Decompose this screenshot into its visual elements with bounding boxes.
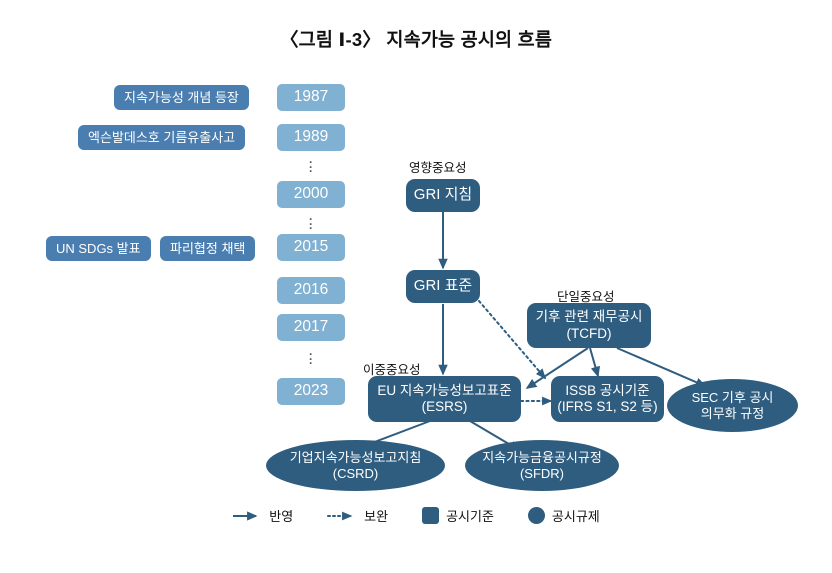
figure-root: 〈그림 Ⅰ-3〉 지속가능 공시의 흐름 (0, 0, 832, 573)
event-box-1987: 지속가능성 개념 등장 (114, 85, 249, 110)
figure-title: 〈그림 Ⅰ-3〉 지속가능 공시의 흐름 (0, 26, 832, 52)
year-box-2015: 2015 (277, 234, 345, 261)
solid-arrow-icon (232, 510, 262, 522)
event-box-un-sdgs: UN SDGs 발표 (46, 236, 151, 261)
node-csrd: 기업지속가능성보고지침 (CSRD) (266, 440, 445, 491)
node-sfdr: 지속가능금융공시규정 (SFDR) (465, 440, 619, 491)
legend-item-reflect: 반영 (232, 506, 293, 525)
node-esrs: EU 지속가능성보고표준 (ESRS) (368, 376, 521, 422)
node-sec: SEC 기후 공시 의무화 규정 (667, 379, 798, 432)
node-tcfd: 기후 관련 재무공시 (TCFD) (527, 303, 651, 348)
year-box-1989: 1989 (277, 124, 345, 151)
legend-label-disclosure-standard: 공시기준 (446, 506, 494, 525)
timeline-ellipsis-3: ··· (277, 352, 345, 366)
legend-label-reflect: 반영 (269, 506, 293, 525)
legend-item-complement: 보완 (327, 506, 388, 525)
year-box-2017: 2017 (277, 314, 345, 341)
edge-tcfd-to-issb (590, 348, 598, 376)
year-box-2000: 2000 (277, 181, 345, 208)
node-gri-standard: GRI 표준 (406, 270, 480, 303)
node-issb: ISSB 공시기준 (IFRS S1, S2 등) (551, 376, 664, 422)
year-box-2023: 2023 (277, 378, 345, 405)
square-swatch-icon (422, 507, 439, 524)
year-box-2016: 2016 (277, 277, 345, 304)
year-box-1987: 1987 (277, 84, 345, 111)
event-box-1989: 엑슨발데스호 기름유출사고 (78, 125, 245, 150)
legend-label-complement: 보완 (364, 506, 388, 525)
legend-label-disclosure-regulation: 공시규제 (552, 506, 600, 525)
legend-item-disclosure-regulation: 공시규제 (528, 506, 600, 525)
legend: 반영 보완 공시기준 (0, 506, 832, 525)
caption-impact-materiality: 영향중요성 (409, 157, 467, 176)
timeline-ellipsis-1: ··· (277, 160, 345, 174)
node-gri-guideline: GRI 지침 (406, 179, 480, 212)
event-box-paris-agreement: 파리협정 채택 (160, 236, 255, 261)
legend-item-disclosure-standard: 공시기준 (422, 506, 494, 525)
dotted-arrow-icon (327, 510, 357, 522)
circle-swatch-icon (528, 507, 545, 524)
timeline-ellipsis-2: ··· (277, 217, 345, 231)
